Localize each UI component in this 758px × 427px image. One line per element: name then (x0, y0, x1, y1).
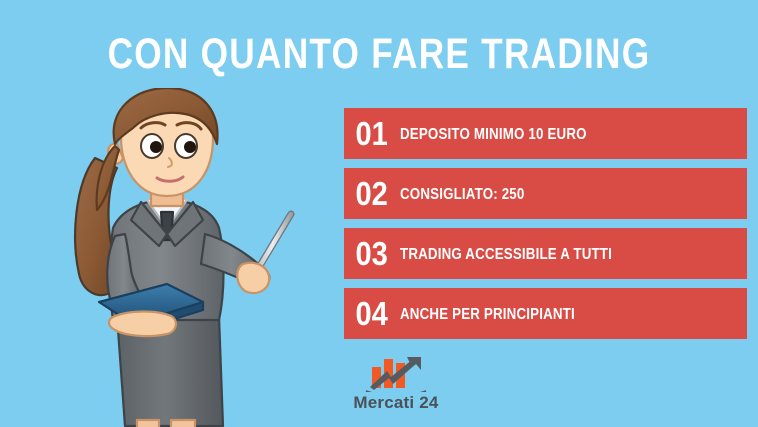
bar-chart-arrow-icon (336, 354, 456, 392)
numbered-list: 01 DEPOSITO MINIMO 10 EURO 02 CONSIGLIAT… (344, 108, 747, 348)
list-item-number: 03 (344, 237, 393, 270)
list-item-number: 04 (344, 297, 393, 330)
page-title: CON QUANTO FARE TRADING (68, 30, 690, 78)
list-item[interactable]: 03 TRADING ACCESSIBILE A TUTTI (344, 228, 747, 279)
brand-logo[interactable]: Mercati 24 (336, 354, 456, 413)
list-item-label: DEPOSITO MINIMO 10 EURO (400, 126, 698, 143)
list-item[interactable]: 04 ANCHE PER PRINCIPIANTI (344, 288, 747, 339)
list-item[interactable]: 01 DEPOSITO MINIMO 10 EURO (344, 108, 747, 159)
businesswoman-with-pointer-illustration (55, 88, 295, 427)
infographic-canvas: CON QUANTO FARE TRADING (0, 0, 758, 427)
list-item-number: 01 (344, 117, 393, 150)
list-item-number: 02 (344, 177, 393, 210)
brand-name: Mercati 24 (336, 393, 456, 413)
list-item[interactable]: 02 CONSIGLIATO: 250 (344, 168, 747, 219)
list-item-label: TRADING ACCESSIBILE A TUTTI (400, 246, 698, 263)
list-item-label: ANCHE PER PRINCIPIANTI (400, 306, 698, 323)
list-item-label: CONSIGLIATO: 250 (400, 186, 698, 203)
